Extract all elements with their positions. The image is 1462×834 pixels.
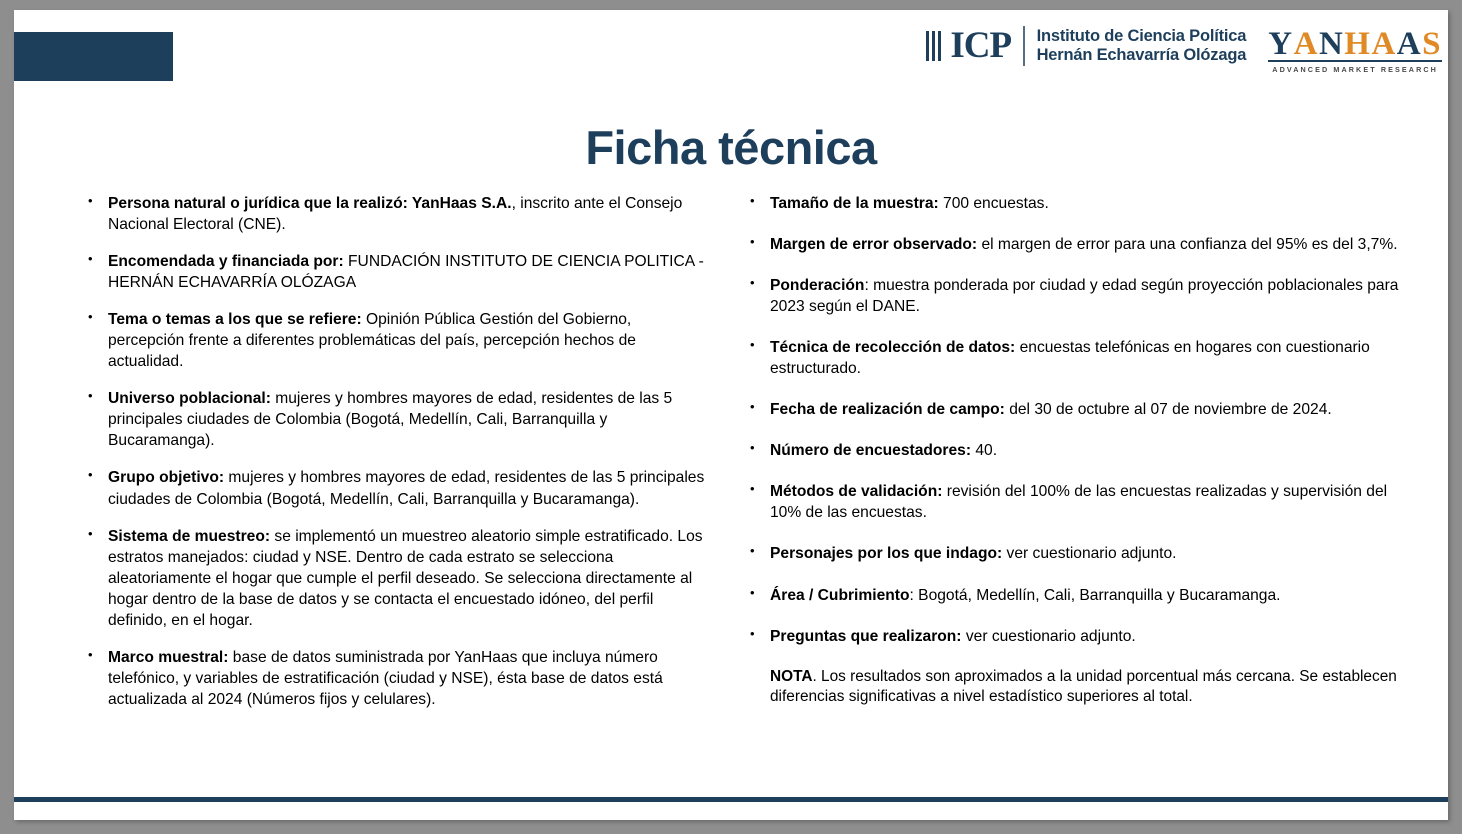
yanhaas-logo: YANHAAS ADVANCED MARKET RESEARCH bbox=[1268, 26, 1442, 74]
bullet-label: Marco muestral: bbox=[108, 649, 228, 666]
bullet-text: ver cuestionario adjunto. bbox=[962, 628, 1136, 645]
list-item: Ponderación: muestra ponderada por ciuda… bbox=[748, 275, 1420, 317]
bullet-text: : muestra ponderada por ciudad y edad se… bbox=[770, 277, 1398, 315]
content-columns: Persona natural o jurídica que la realiz… bbox=[14, 193, 1448, 726]
left-bullet-list: Persona natural o jurídica que la realiz… bbox=[86, 193, 708, 710]
bullet-label: Margen de error observado: bbox=[770, 236, 977, 253]
note-text: . Los resultados son aproximados a la un… bbox=[770, 668, 1397, 706]
yanhaas-letter-s: S bbox=[1422, 27, 1442, 61]
page-title: Ficha técnica bbox=[14, 120, 1448, 175]
list-item: Personajes por los que indago: ver cuest… bbox=[748, 543, 1420, 564]
yanhaas-letter-h: H bbox=[1344, 27, 1371, 61]
right-bullet-list: Tamaño de la muestra: 700 encuestas. Mar… bbox=[748, 193, 1420, 647]
bullet-label: Grupo objetivo: bbox=[108, 469, 224, 486]
bullet-text: 700 encuestas. bbox=[939, 195, 1049, 212]
bullet-label: Fecha de realización de campo: bbox=[770, 401, 1005, 418]
bullet-label: Sistema de muestreo: bbox=[108, 528, 270, 545]
yanhaas-wordmark: YANHAAS bbox=[1268, 27, 1442, 61]
bullet-label: Persona natural o jurídica que la realiz… bbox=[108, 195, 512, 212]
bullet-label: Métodos de validación: bbox=[770, 483, 942, 500]
bullet-text: del 30 de octubre al 07 de noviembre de … bbox=[1005, 401, 1332, 418]
bullet-label: Universo poblacional: bbox=[108, 390, 271, 407]
bullet-text: ver cuestionario adjunto. bbox=[1002, 545, 1176, 562]
icp-subtitle-line1: Instituto de Ciencia Política bbox=[1037, 27, 1247, 46]
yanhaas-letter-a2: A bbox=[1371, 27, 1396, 61]
list-item: Marco muestral: base de datos suministra… bbox=[86, 647, 708, 710]
left-column: Persona natural o jurídica que la realiz… bbox=[14, 193, 730, 726]
yanhaas-letter-n: N bbox=[1319, 27, 1344, 61]
bullet-text: el margen de error para una confianza de… bbox=[977, 236, 1397, 253]
list-item: Tema o temas a los que se refiere: Opini… bbox=[86, 309, 708, 372]
bullet-label: Ponderación bbox=[770, 277, 864, 294]
slide-canvas: ICP Instituto de Ciencia Política Hernán… bbox=[14, 10, 1448, 820]
icp-logo: ICP Instituto de Ciencia Política Hernán… bbox=[926, 26, 1246, 66]
bullet-label: Personajes por los que indago: bbox=[770, 545, 1002, 562]
yanhaas-tagline: ADVANCED MARKET RESEARCH bbox=[1272, 65, 1438, 74]
list-item: Tamaño de la muestra: 700 encuestas. bbox=[748, 193, 1420, 214]
yanhaas-letter-y: Y bbox=[1268, 27, 1293, 61]
list-item: Universo poblacional: mujeres y hombres … bbox=[86, 388, 708, 451]
right-column: Tamaño de la muestra: 700 encuestas. Mar… bbox=[730, 193, 1448, 726]
icp-wordmark: ICP bbox=[950, 31, 1011, 61]
icp-subtitle-line2: Hernán Echavarría Olózaga bbox=[1037, 46, 1247, 65]
bullet-label: Tamaño de la muestra: bbox=[770, 195, 939, 212]
bullet-text: : Bogotá, Medellín, Cali, Barranquilla y… bbox=[910, 587, 1281, 604]
decorative-corner-block bbox=[14, 32, 173, 81]
bullet-text: 40. bbox=[971, 442, 997, 459]
bullet-label: Tema o temas a los que se refiere: bbox=[108, 311, 362, 328]
list-item: Área / Cubrimiento: Bogotá, Medellín, Ca… bbox=[748, 585, 1420, 606]
decorative-bottom-rule bbox=[14, 797, 1448, 802]
note-label: NOTA bbox=[770, 668, 812, 685]
icp-divider bbox=[1023, 26, 1025, 66]
list-item: Métodos de validación: revisión del 100%… bbox=[748, 481, 1420, 523]
bullet-label: Encomendada y financiada por: bbox=[108, 253, 344, 270]
icp-subtitle: Instituto de Ciencia Política Hernán Ech… bbox=[1037, 27, 1247, 65]
icp-bars-icon bbox=[926, 31, 942, 61]
bullet-label: Número de encuestadores: bbox=[770, 442, 971, 459]
logo-bar: ICP Instituto de Ciencia Política Hernán… bbox=[926, 26, 1442, 74]
list-item: Grupo objetivo: mujeres y hombres mayore… bbox=[86, 467, 708, 509]
list-item: Número de encuestadores: 40. bbox=[748, 440, 1420, 461]
note-block: NOTA. Los resultados son aproximados a l… bbox=[770, 667, 1420, 709]
bullet-label: Técnica de recolección de datos: bbox=[770, 339, 1015, 356]
list-item: Margen de error observado: el margen de … bbox=[748, 234, 1420, 255]
list-item: Técnica de recolección de datos: encuest… bbox=[748, 337, 1420, 379]
yanhaas-letter-a1: A bbox=[1294, 27, 1319, 61]
list-item: Sistema de muestreo: se implementó un mu… bbox=[86, 526, 708, 631]
yanhaas-letter-a3: A bbox=[1397, 27, 1422, 61]
list-item: Fecha de realización de campo: del 30 de… bbox=[748, 399, 1420, 420]
bullet-label: Área / Cubrimiento bbox=[770, 587, 910, 604]
list-item: Persona natural o jurídica que la realiz… bbox=[86, 193, 708, 235]
list-item: Preguntas que realizaron: ver cuestionar… bbox=[748, 626, 1420, 647]
list-item: Encomendada y financiada por: FUNDACIÓN … bbox=[86, 251, 708, 293]
bullet-label: Preguntas que realizaron: bbox=[770, 628, 962, 645]
